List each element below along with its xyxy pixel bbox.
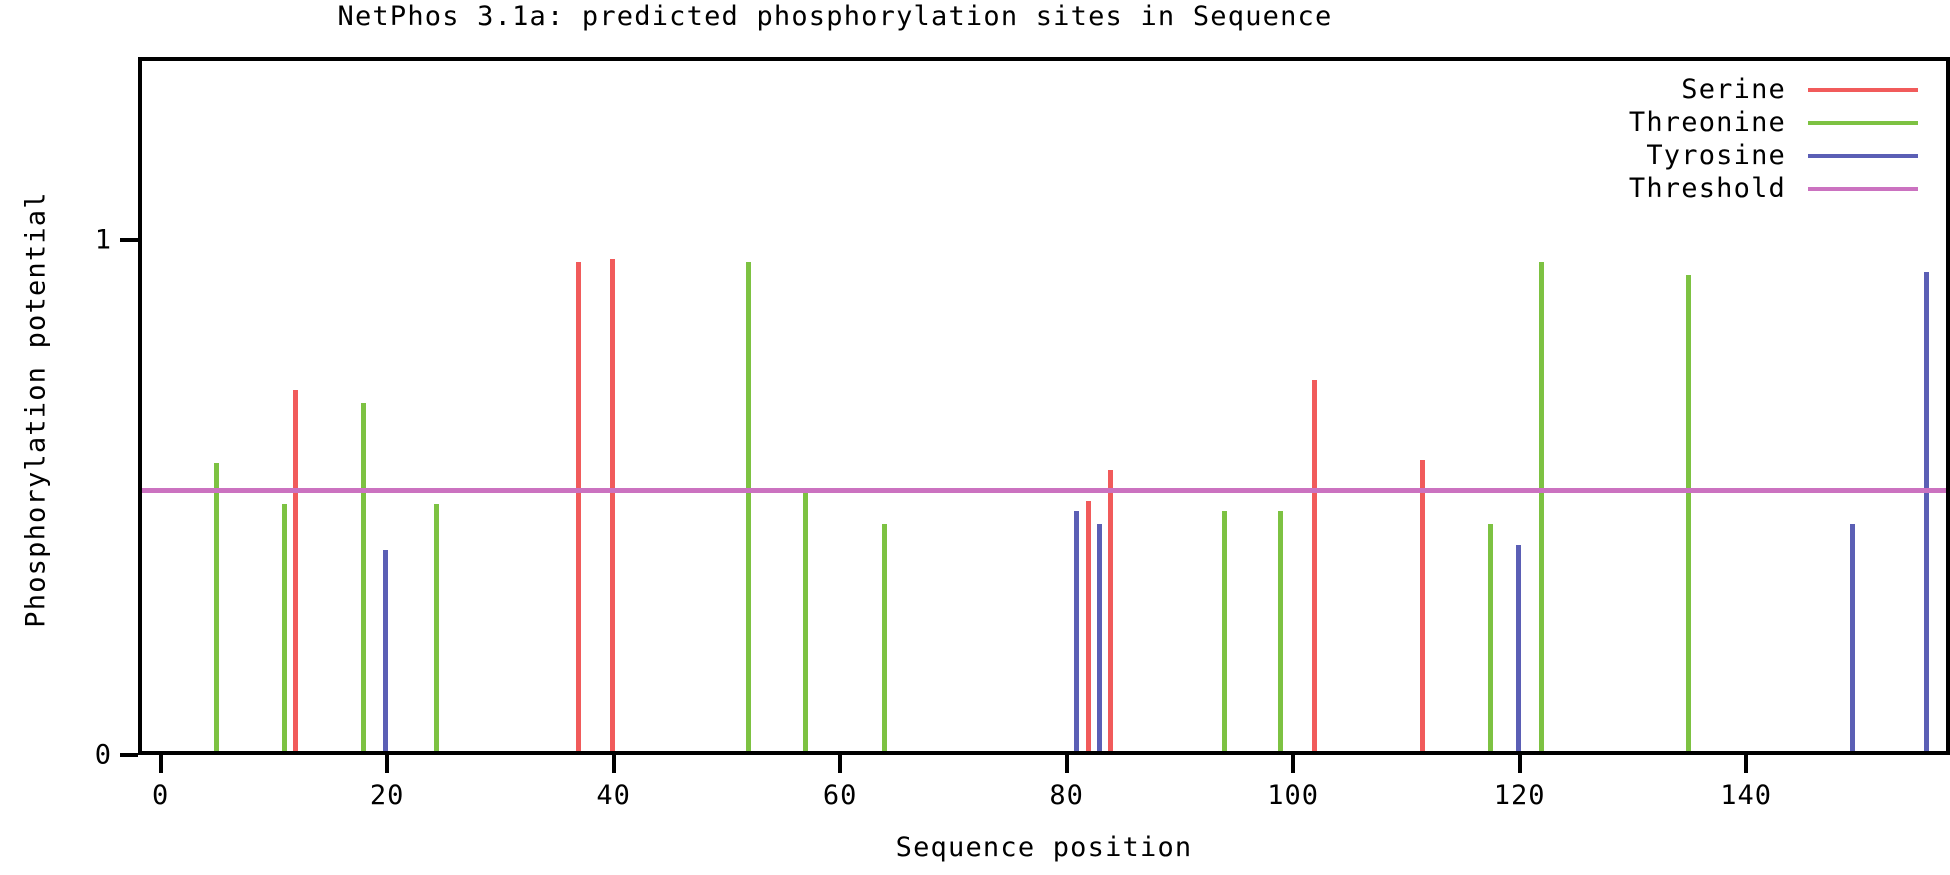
x-tick-label: 40 [596, 780, 631, 811]
bar-threonine [1539, 262, 1544, 751]
x-tick-label: 100 [1267, 780, 1319, 811]
legend-swatch-threshold [1808, 187, 1918, 191]
netphos-figure: NetPhos 3.1a: predicted phosphorylation … [0, 0, 1950, 875]
plot-right-border [1946, 57, 1950, 755]
x-tick [1744, 755, 1748, 773]
bar-threonine [361, 403, 366, 751]
bar-tyrosine [1516, 545, 1521, 751]
x-tick [612, 755, 616, 773]
x-tick [159, 755, 163, 773]
legend-item-tyrosine[interactable]: Tyrosine [1629, 139, 1918, 172]
y-axis-label: Phosphorylation potential [21, 130, 52, 690]
page-title: NetPhos 3.1a: predicted phosphorylation … [0, 0, 1670, 34]
x-tick-label: 140 [1720, 780, 1772, 811]
legend-swatch-threonine [1808, 121, 1918, 125]
bar-threonine [1222, 511, 1227, 751]
x-axis-label: Sequence position [138, 832, 1950, 863]
x-tick-label: 0 [152, 780, 169, 811]
x-tick [1518, 755, 1522, 773]
x-tick-label: 20 [370, 780, 405, 811]
threshold-line [142, 488, 1950, 493]
y-tick [120, 753, 138, 757]
bar-serine [293, 390, 298, 751]
bar-threonine [746, 262, 751, 751]
x-tick [838, 755, 842, 773]
bar-tyrosine [1097, 524, 1102, 751]
y-tick-label: 1 [95, 224, 112, 255]
bar-serine [1312, 380, 1317, 751]
bar-tyrosine [383, 550, 388, 751]
legend-item-label: Tyrosine [1646, 140, 1786, 171]
legend-swatch-tyrosine [1808, 154, 1918, 158]
bar-serine [1420, 460, 1425, 751]
x-tick-label: 80 [1049, 780, 1084, 811]
x-tick [385, 755, 389, 773]
legend-item-label: Serine [1681, 74, 1786, 105]
bar-serine [610, 259, 615, 751]
bar-serine [576, 262, 581, 751]
bar-tyrosine [1924, 272, 1929, 751]
bar-threonine [803, 493, 808, 751]
bar-serine [1086, 501, 1091, 751]
x-tick [1291, 755, 1295, 773]
legend-item-label: Threonine [1629, 107, 1786, 138]
y-tick [120, 238, 138, 242]
legend-item-serine[interactable]: Serine [1629, 73, 1918, 106]
x-tick-label: 120 [1494, 780, 1546, 811]
bar-threonine [882, 524, 887, 751]
bar-serine [1108, 470, 1113, 751]
x-tick-label: 60 [823, 780, 858, 811]
y-tick-label: 0 [95, 740, 112, 771]
bar-threonine [282, 504, 287, 751]
bar-threonine [1686, 275, 1691, 751]
legend-item-label: Threshold [1629, 173, 1786, 204]
bar-tyrosine [1850, 524, 1855, 751]
bar-threonine [1278, 511, 1283, 751]
bar-threonine [1488, 524, 1493, 751]
legend-item-threshold[interactable]: Threshold [1629, 172, 1918, 205]
bar-threonine [214, 463, 219, 751]
legend-item-threonine[interactable]: Threonine [1629, 106, 1918, 139]
x-tick [1065, 755, 1069, 773]
legend-swatch-serine [1808, 88, 1918, 92]
legend: SerineThreonineTyrosineThreshold [1629, 73, 1918, 205]
bar-threonine [434, 504, 439, 751]
bar-tyrosine [1074, 511, 1079, 751]
